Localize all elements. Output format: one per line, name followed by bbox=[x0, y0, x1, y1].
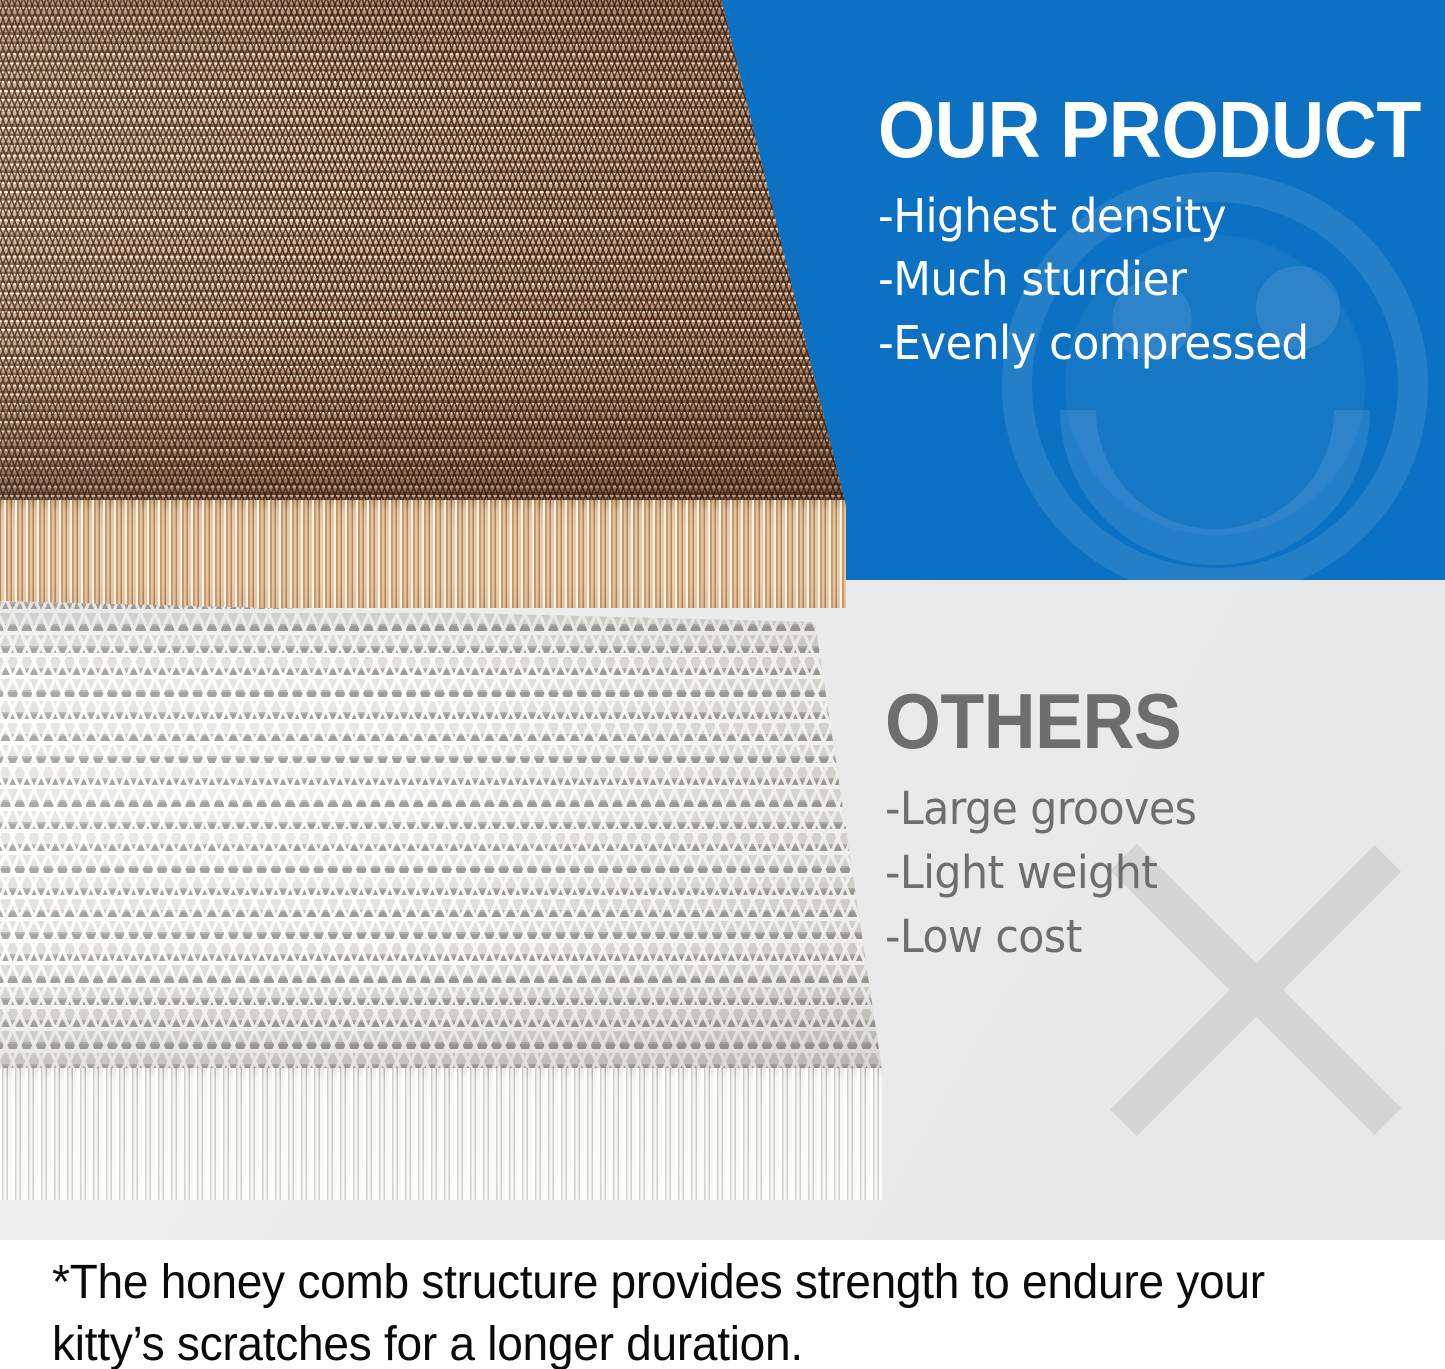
white-slab-side-edge bbox=[0, 1068, 920, 1200]
brown-honeycomb-face bbox=[0, 0, 860, 506]
our-product-bullet-1: -Highest density bbox=[878, 185, 1391, 248]
white-honeycomb-cardboard-slab bbox=[0, 600, 920, 1200]
others-bullet-3: -Low cost bbox=[885, 905, 1398, 969]
our-product-heading: OUR PRODUCT bbox=[878, 92, 1375, 169]
others-heading: OTHERS bbox=[885, 684, 1382, 759]
our-product-bullet-3: -Evenly compressed bbox=[878, 312, 1391, 375]
brown-slab-side-edge bbox=[0, 500, 860, 608]
others-bullet-2: -Light weight bbox=[885, 841, 1398, 905]
brown-honeycomb-cardboard-slab bbox=[0, 0, 860, 608]
our-product-bullet-2: -Much sturdier bbox=[878, 248, 1391, 311]
footnote-text: *The honey comb structure provides stren… bbox=[52, 1252, 1348, 1369]
white-honeycomb-face bbox=[0, 600, 920, 1075]
infographic-canvas: OUR PRODUCT -Highest density -Much sturd… bbox=[0, 0, 1445, 1369]
our-product-text-block: OUR PRODUCT -Highest density -Much sturd… bbox=[878, 92, 1418, 375]
others-text-block: OTHERS -Large grooves -Light weight -Low… bbox=[885, 684, 1425, 969]
our-product-bullet-list: -Highest density -Much sturdier -Evenly … bbox=[878, 185, 1418, 375]
others-bullet-1: -Large grooves bbox=[885, 777, 1398, 841]
others-bullet-list: -Large grooves -Light weight -Low cost bbox=[885, 777, 1425, 969]
